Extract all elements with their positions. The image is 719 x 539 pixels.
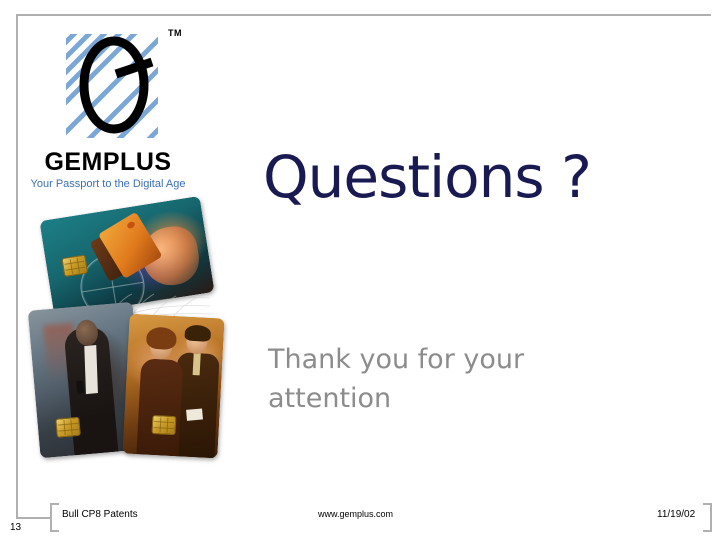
necktie-graphic — [193, 353, 201, 375]
footer-left-text: Bull CP8 Patents — [62, 509, 138, 520]
card-dot-graphic — [126, 220, 136, 229]
logo-wordmark: GEMPLUS — [28, 148, 188, 177]
frame-footer-line — [16, 517, 52, 519]
smartcard-chip-icon — [151, 415, 176, 435]
person-b-hair-graphic — [184, 325, 211, 342]
frame-top-line — [16, 14, 711, 16]
person-a-body-graphic — [136, 358, 183, 456]
footer-bracket-right-icon — [703, 503, 712, 532]
paper-card-graphic — [186, 408, 203, 420]
footer-website-text: www.gemplus.com — [318, 509, 393, 519]
person-shirt-graphic — [84, 345, 98, 394]
slide-title: Questions ? — [263, 143, 591, 211]
smartcard-chip-icon — [55, 417, 81, 438]
smartcard-photo-teal — [39, 196, 214, 317]
footer-date-text: 11/19/02 — [657, 509, 695, 520]
smartcard-photo-collage — [28, 200, 228, 462]
slide-canvas: TM GEMPLUS Your Passport to the Digital … — [0, 0, 719, 539]
smartcard-photo-couple — [122, 314, 224, 459]
footer-bracket-left-icon — [50, 503, 59, 532]
trademark-symbol: TM — [168, 28, 182, 38]
logo-tagline: Your Passport to the Digital Age — [28, 178, 188, 190]
gemplus-g-logo-icon: TM — [60, 28, 170, 146]
person-a-hair-graphic — [146, 327, 177, 351]
mobile-phone-graphic — [76, 380, 84, 394]
slide-subtitle: Thank you for your attention — [268, 340, 598, 418]
smartcard-chip-icon — [61, 255, 88, 278]
frame-left-line — [16, 14, 18, 519]
slide-page-number: 13 — [10, 522, 21, 533]
gemplus-logo: TM GEMPLUS Your Passport to the Digital … — [34, 28, 194, 190]
